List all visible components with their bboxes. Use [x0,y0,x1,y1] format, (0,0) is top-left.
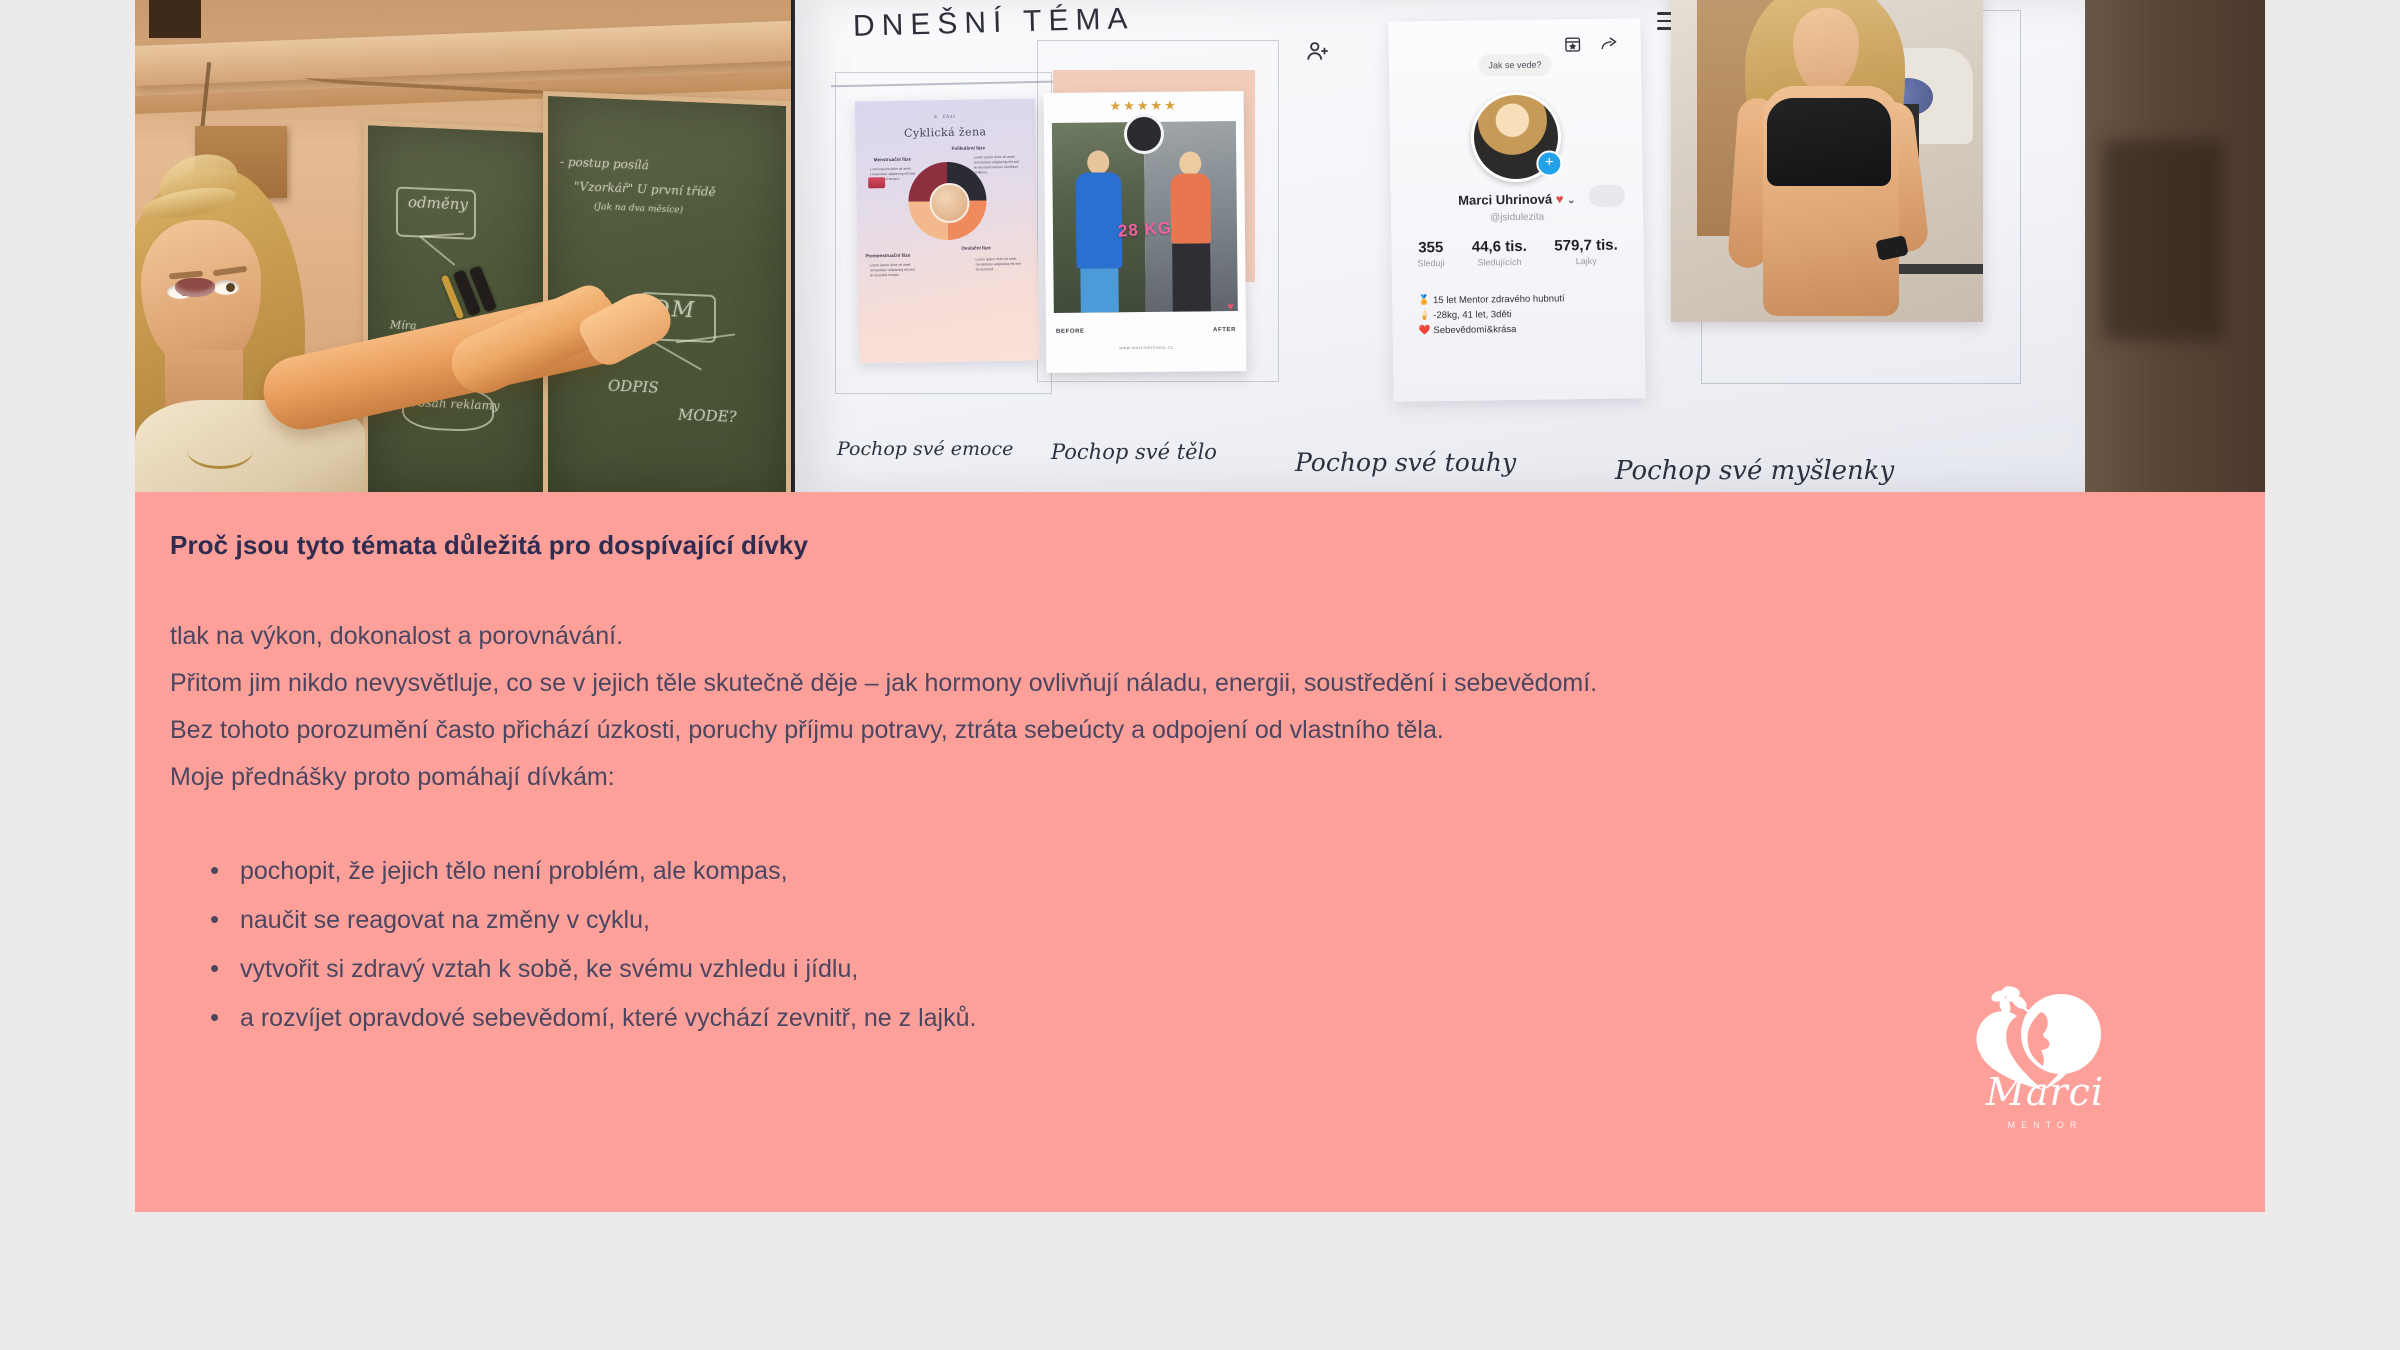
list-item: pochopit, že jejich tělo není problém, a… [210,847,2230,896]
after-photo [1144,121,1238,312]
profile-bio: 🏅15 let Mentor zdravého hubnutí 🍦-28kg, … [1418,291,1565,338]
presenter-mouth [175,278,215,297]
card1-label-4: Premenstruační fáze [865,253,910,259]
weight-loss-badge: 28 KG [1117,218,1172,241]
slide-card-cyklicka-zena: 4. část Cyklická žena Menstruační fáze F… [855,98,1040,363]
share-arrow-icon [1600,35,1619,54]
profile-bubble-text: Jak se vede? [1478,54,1551,77]
content-panel: Proč jsou tyto témata důležitá pro dospí… [135,492,2265,1212]
list-item: vytvořit si zdravý vztah k sobě, ke svém… [210,945,2230,994]
marci-mentor-logo: Marci MENTOR [1955,980,2135,1140]
list-item: naučit se reagovat na změny v cyklu, [210,896,2230,945]
paragraph-3: Bez tohoto porozumění často přichází úzk… [170,707,2230,754]
card1-label-3: Ovulační fáze [961,245,991,251]
before-label: BEFORE [1056,329,1085,335]
room-dark-edge [2085,0,2265,492]
stat-followers: 44,6 tis. Sledujících [1472,238,1527,268]
stat-likes: 579,7 tis. Lajky [1554,237,1618,267]
benefits-list: pochopit, že jejich tělo není problém, a… [170,847,2230,1043]
add-person-icon [1305,38,1331,64]
before-photo [1052,122,1146,313]
profile-stats: 355 Sleduji 44,6 tis. Sledujících 579,7 … [1403,236,1631,268]
after-label: AFTER [1213,327,1236,333]
phone-camera-notch [1124,114,1164,154]
projector-slide: DNEŠNÍ TÉMA 4. část Cyklická žena Menstr… [795,0,2085,492]
chalk-note-right-2: "Vzorkář" U první třídě [574,179,716,199]
lecture-photo: odměny Míra Obsah reklamy - postup posíl… [135,0,2265,492]
profile-handle: @jsidulezita [1391,210,1643,225]
rating-stars: ★★★★★ [1044,97,1244,115]
chalk-note-right-3: (Jak na dva měsíce) [594,202,683,216]
heart-icon: ♥ [1227,301,1234,313]
chalk-note-right-6: MODE? [678,405,737,425]
logo-script-text: Marci [1955,1070,2135,1114]
card1-label-2: Folikulární fáze [952,145,986,151]
slide-card-social-profile: Jak se vede? + Marci Uhrinová ♥ ⌄ @jsidu… [1388,18,1645,401]
slide-caption-4: Pochop své myšlenky [1615,456,1894,486]
card1-flag [868,177,885,188]
card2-url: www.marciuhrinova.cz [1046,344,1246,351]
logo-subtitle: MENTOR [1955,1120,2135,1130]
add-story-plus-icon: + [1536,150,1562,176]
wall-dark-top [149,0,201,38]
presenter-figure [135,150,555,492]
slide-card-before-after: ★★★★★ [1044,91,1247,373]
slide-card-portrait-photo [1671,0,1983,322]
card1-label-1: Menstruační fáze [874,157,911,163]
list-item: a rozvíjet opravdové sebevědomí, které v… [210,994,2230,1043]
slide-caption-2: Pochop své tělo [1051,440,1217,464]
chalk-note-right-5: ODPIS [608,377,659,397]
card1-pretitle: 4. část [855,112,1035,121]
add-to-story-icon [1564,35,1582,53]
slide-caption-3: Pochop své touhy [1295,448,1516,477]
stat-following: 355 Sleduji [1417,239,1444,268]
paragraph-1: tlak na výkon, dokonalost a porovnávání. [170,613,2230,660]
chalk-note-right-1: - postup posílá [560,155,649,173]
slide-title: DNEŠNÍ TÉMA [853,2,1135,44]
paragraph-2: Přitom jim nikdo nevysvětluje, co se v j… [170,660,2230,707]
page-title: Proč jsou tyto témata důležitá pro dospí… [170,530,2230,561]
slide-page: odměny Míra Obsah reklamy - postup posíl… [0,0,2400,1350]
presenter-necklace [187,432,253,469]
slide-caption-1: Pochop své emoce [837,438,1013,460]
card1-title: Cyklická žena [855,124,1035,140]
paragraph-4: Moje přednášky proto pomáhají dívkám: [170,754,2230,801]
profile-avatar: + [1470,91,1561,182]
